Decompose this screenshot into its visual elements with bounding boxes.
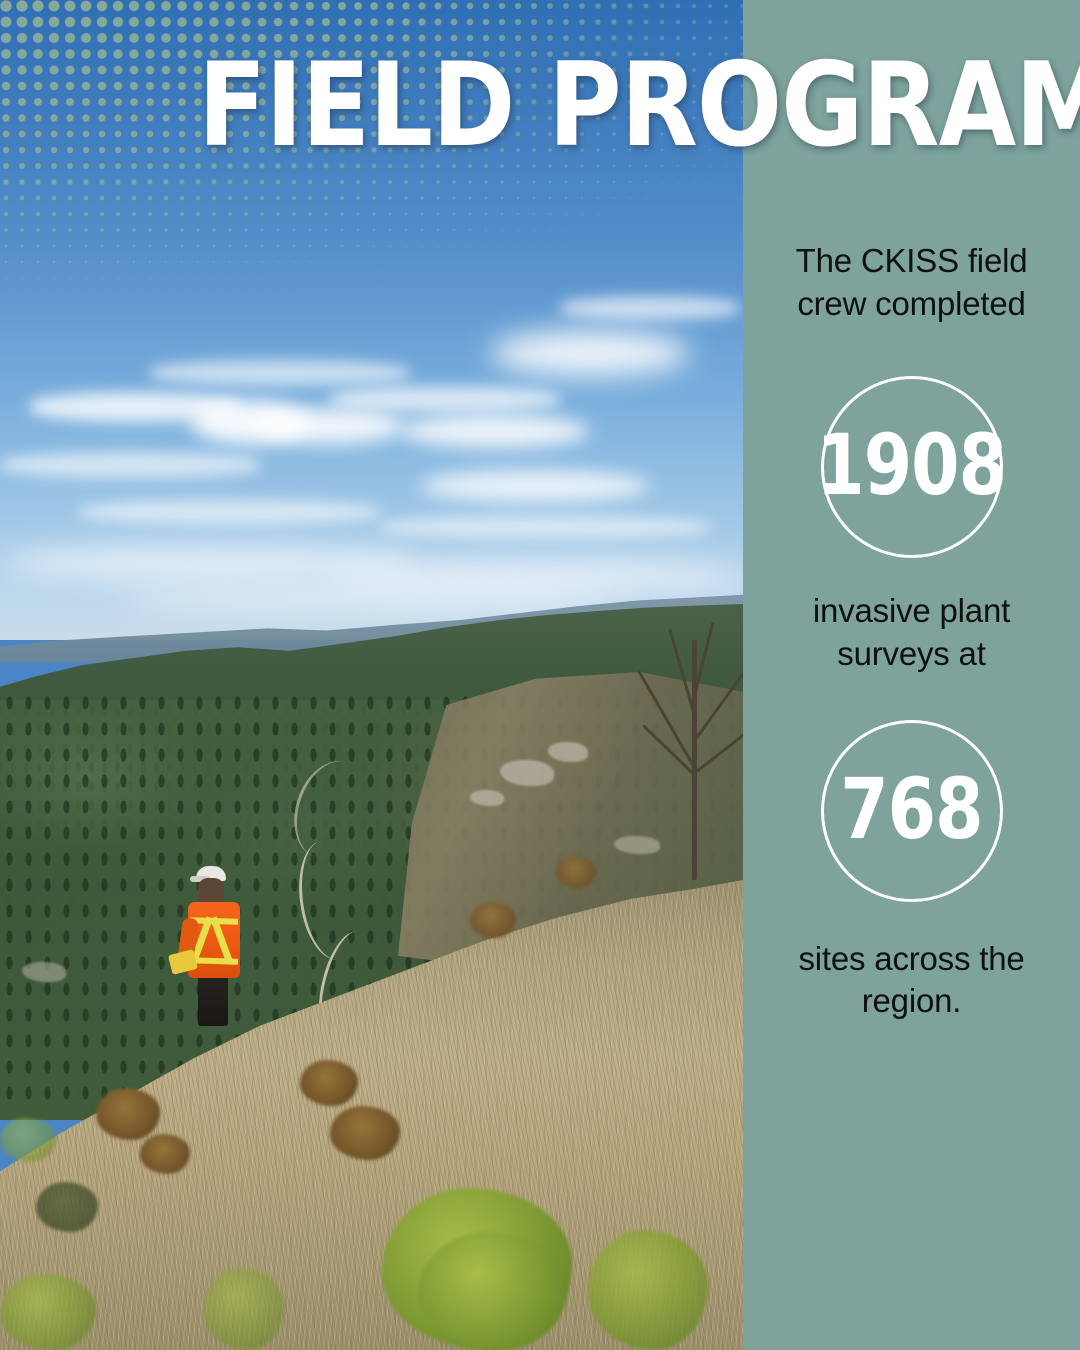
cloud <box>150 360 410 386</box>
cloud <box>560 296 740 320</box>
stat-badge-surveys: 1908 <box>821 376 1003 558</box>
shrub <box>588 1230 708 1350</box>
tree-trunk <box>692 640 697 880</box>
shrub <box>36 1182 98 1232</box>
shrub <box>418 1232 568 1350</box>
shrub <box>330 1106 400 1160</box>
shrub <box>96 1088 160 1140</box>
cloud <box>120 586 620 612</box>
field-crew-worker <box>178 866 260 1026</box>
tree-branch <box>668 629 695 712</box>
cloud <box>400 414 590 448</box>
cloud <box>0 452 260 478</box>
stats-panel: The CKISS field crew completed 1908 inva… <box>743 0 1080 1350</box>
cloud <box>490 330 690 376</box>
shrub <box>0 1274 96 1350</box>
tail-text: sites across the region. <box>762 938 1062 1024</box>
cloud <box>380 516 710 538</box>
shrub <box>556 856 596 888</box>
shrub <box>140 1134 190 1174</box>
cloud <box>420 470 650 502</box>
legs <box>198 972 228 1026</box>
shrub <box>204 1268 284 1350</box>
shrub <box>0 1118 56 1162</box>
dead-tree <box>640 600 743 880</box>
stat-value-surveys: 1908 <box>817 423 1007 507</box>
page-title: FIELD PROGRAM <box>198 48 1080 164</box>
shrub <box>470 902 516 938</box>
tree-branch <box>642 724 694 775</box>
lead-text: The CKISS field crew completed <box>762 240 1062 326</box>
middle-text: invasive plant surveys at <box>762 590 1062 676</box>
hero-photo <box>0 0 743 1350</box>
shrub <box>300 1060 358 1106</box>
cloud <box>255 408 405 444</box>
stat-badge-sites: 768 <box>821 720 1003 902</box>
cloud <box>80 500 380 524</box>
stat-value-sites: 768 <box>840 767 982 851</box>
infographic-poster: FIELD PROGRAM The CKISS field crew compl… <box>0 0 1080 1350</box>
cloud <box>330 386 560 412</box>
